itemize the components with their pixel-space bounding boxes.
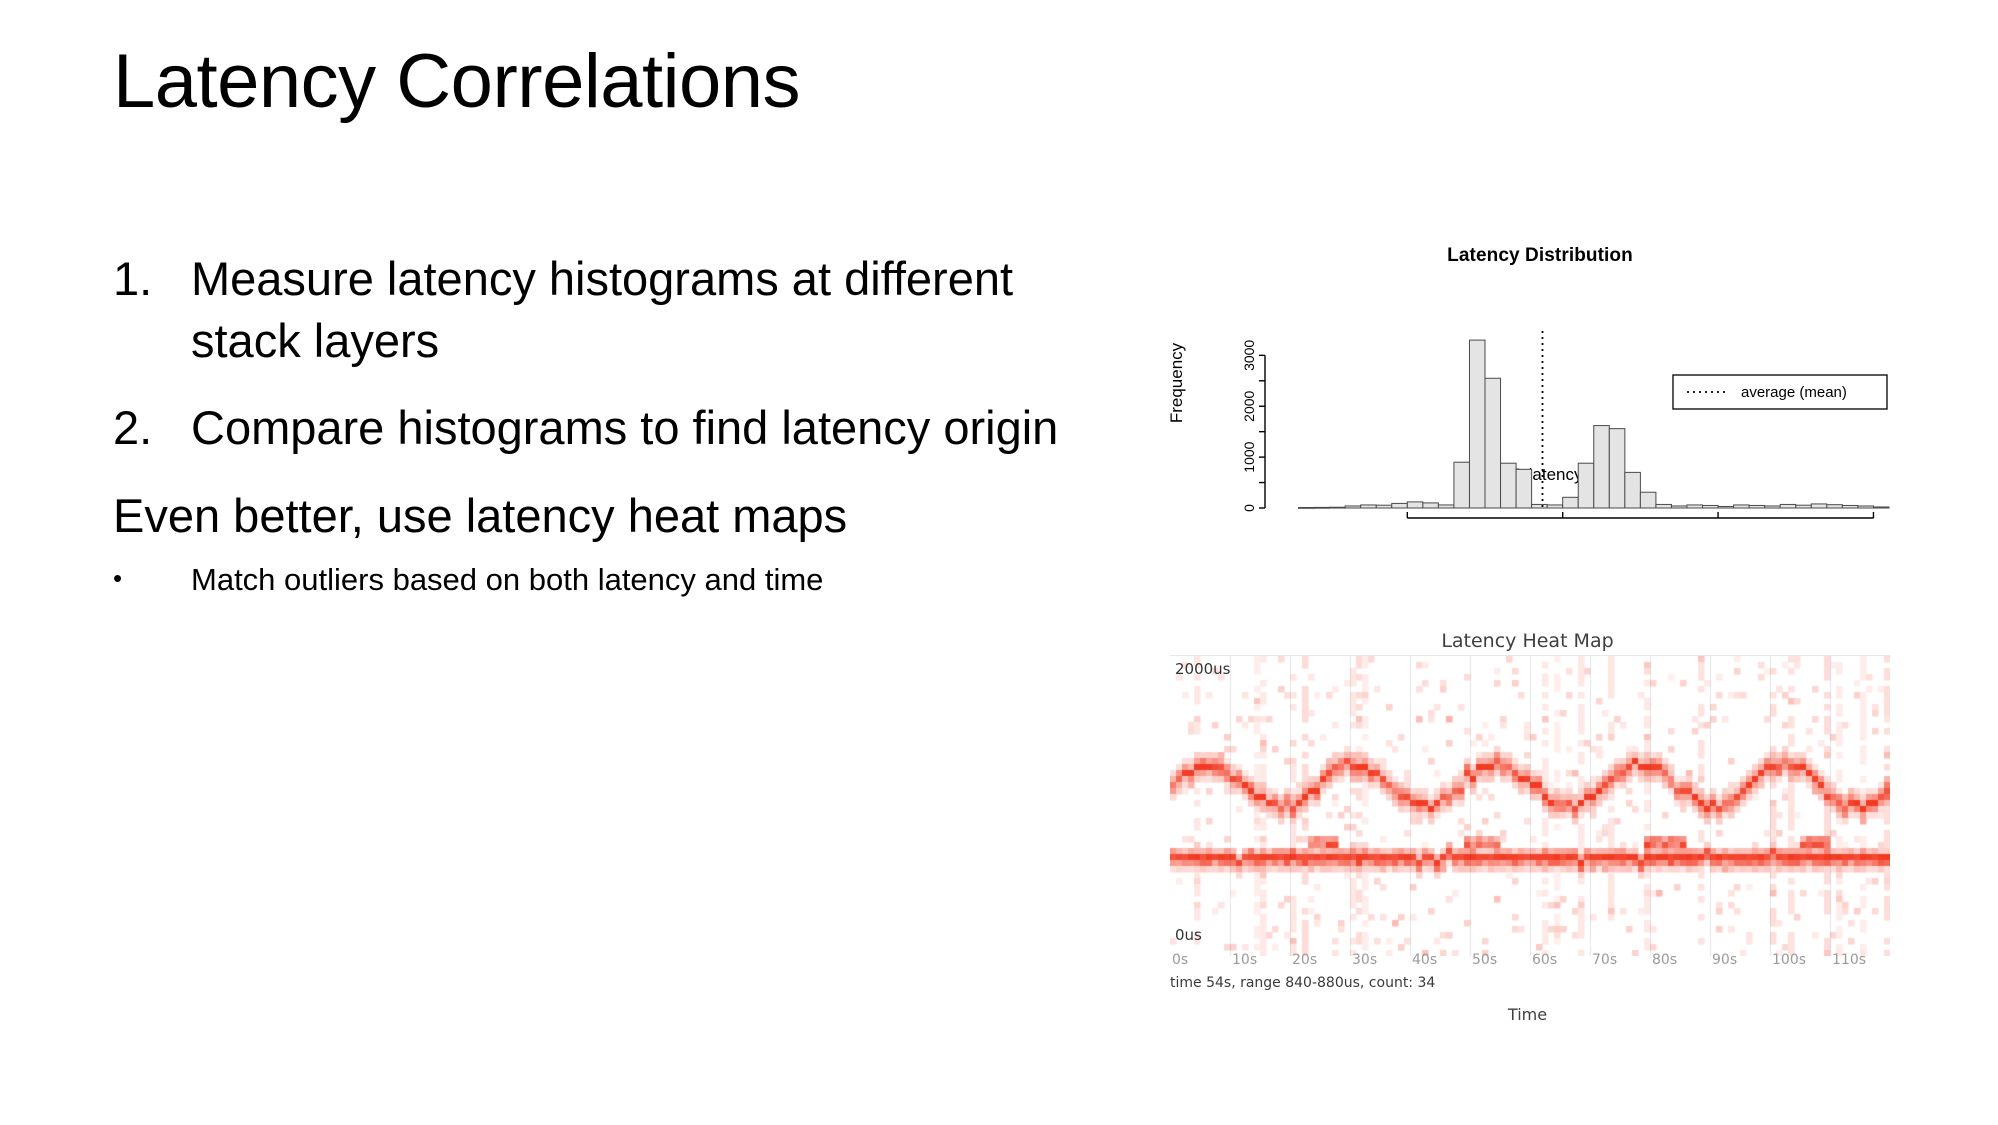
histogram-bar bbox=[1485, 378, 1501, 508]
heatmap-canvas[interactable] bbox=[1170, 656, 1890, 956]
list-item-text: Measure latency histograms at different … bbox=[191, 248, 1113, 371]
slide-canvas: Latency Correlations 1. Measure latency … bbox=[0, 0, 1998, 1125]
heatmap-y-min-label: 0us bbox=[1175, 926, 1202, 944]
histogram-bar bbox=[1345, 506, 1361, 508]
bullet-marker: • bbox=[113, 560, 191, 598]
histogram-bar bbox=[1547, 505, 1563, 508]
histogram-bar bbox=[1671, 506, 1687, 508]
body-content: 1. Measure latency histograms at differe… bbox=[113, 248, 1113, 600]
list-item: 2. Compare histograms to find latency or… bbox=[113, 397, 1113, 459]
list-marker: 1. bbox=[113, 248, 191, 310]
heatmap-x-tick-label: 80s bbox=[1652, 952, 1677, 968]
heatmap-x-tick-label: 40s bbox=[1412, 952, 1437, 968]
histogram-bar bbox=[1454, 462, 1470, 508]
heatmap-title: Latency Heat Map bbox=[1155, 630, 1900, 652]
histogram-bar bbox=[1687, 505, 1703, 508]
histogram-bar bbox=[1594, 426, 1610, 508]
histogram-bar bbox=[1578, 463, 1594, 508]
y-tick-label: 0 bbox=[1243, 504, 1257, 512]
histogram-bar bbox=[1532, 504, 1548, 508]
heatmap-x-tick-label: 90s bbox=[1712, 952, 1737, 968]
histogram-bar bbox=[1873, 507, 1889, 508]
list-item-text: Compare histograms to find latency origi… bbox=[191, 397, 1113, 459]
histogram-bar bbox=[1640, 492, 1656, 508]
page-title: Latency Correlations bbox=[113, 42, 800, 121]
histogram-bar bbox=[1842, 505, 1858, 508]
latency-distribution-chart: Latency Distribution Frequency Disk I/O … bbox=[1155, 245, 1955, 505]
legend-label: average (mean) bbox=[1741, 384, 1847, 401]
bullet-text: Match outliers based on both latency and… bbox=[191, 560, 823, 600]
histogram-bar bbox=[1718, 506, 1734, 508]
chart-title: Latency Distribution bbox=[1155, 245, 1925, 267]
histogram-svg: 0100020003000500100015002000average (mea… bbox=[1243, 327, 1893, 522]
heatmap-plot-area[interactable] bbox=[1170, 655, 1890, 956]
histogram-bar bbox=[1765, 506, 1781, 508]
list-item: 1. Measure latency histograms at differe… bbox=[113, 248, 1113, 371]
histogram-bar bbox=[1376, 505, 1392, 508]
histogram-bar bbox=[1858, 506, 1874, 508]
histogram-bar bbox=[1609, 429, 1625, 508]
list-item: • Match outliers based on both latency a… bbox=[113, 560, 1113, 600]
histogram-bar bbox=[1407, 502, 1423, 508]
histogram-bar bbox=[1469, 340, 1485, 508]
histogram-bar bbox=[1796, 505, 1812, 508]
histogram-bar bbox=[1501, 463, 1517, 508]
y-axis-label: Frequency bbox=[1167, 343, 1187, 423]
histogram-bar bbox=[1625, 472, 1641, 508]
histogram-bar bbox=[1330, 507, 1346, 508]
heatmap-x-tick-label: 20s bbox=[1292, 952, 1317, 968]
histogram-bar bbox=[1827, 505, 1843, 508]
heatmap-x-axis: 0s10s20s30s40s50s60s70s80s90s100s110s bbox=[1170, 952, 1890, 972]
list-marker: 2. bbox=[113, 397, 191, 459]
histogram-bar bbox=[1392, 503, 1408, 508]
histogram-bar bbox=[1811, 504, 1827, 508]
histogram-bar bbox=[1314, 507, 1330, 508]
heatmap-x-tick-label: 10s bbox=[1232, 952, 1257, 968]
histogram-bar bbox=[1299, 507, 1315, 508]
heatmap-x-tick-label: 50s bbox=[1472, 952, 1497, 968]
heatmap-x-tick-label: 70s bbox=[1592, 952, 1617, 968]
y-tick-label: 3000 bbox=[1243, 340, 1257, 371]
chart-plot-area: 0100020003000500100015002000average (mea… bbox=[1243, 327, 1893, 522]
heatmap-x-tick-label: 0s bbox=[1172, 952, 1188, 968]
heatmap-x-tick-label: 100s bbox=[1772, 952, 1806, 968]
histogram-bar bbox=[1749, 505, 1765, 508]
latency-heat-map: Latency Heat Map 2000us 0us 0s10s20s30s4… bbox=[1155, 630, 1955, 880]
y-tick-label: 1000 bbox=[1243, 441, 1257, 472]
heatmap-y-max-label: 2000us bbox=[1175, 660, 1231, 678]
histogram-bar bbox=[1780, 504, 1796, 508]
heatmap-x-tick-label: 60s bbox=[1532, 952, 1557, 968]
y-tick-label: 2000 bbox=[1243, 390, 1257, 421]
histogram-bar bbox=[1703, 505, 1719, 508]
histogram-bar bbox=[1516, 469, 1532, 508]
histogram-bar bbox=[1734, 505, 1750, 508]
histogram-bar bbox=[1563, 497, 1579, 508]
histogram-bar bbox=[1361, 505, 1377, 508]
histogram-bar bbox=[1438, 505, 1454, 508]
histogram-bar bbox=[1423, 503, 1439, 508]
lead-line: Even better, use latency heat maps bbox=[113, 485, 1113, 546]
heatmap-x-tick-label: 30s bbox=[1352, 952, 1377, 968]
heatmap-x-axis-label: Time bbox=[1155, 1005, 1900, 1024]
heatmap-status-text: time 54s, range 840-880us, count: 34 bbox=[1170, 975, 1435, 991]
heatmap-x-tick-label: 110s bbox=[1832, 952, 1866, 968]
histogram-bar bbox=[1656, 504, 1672, 508]
